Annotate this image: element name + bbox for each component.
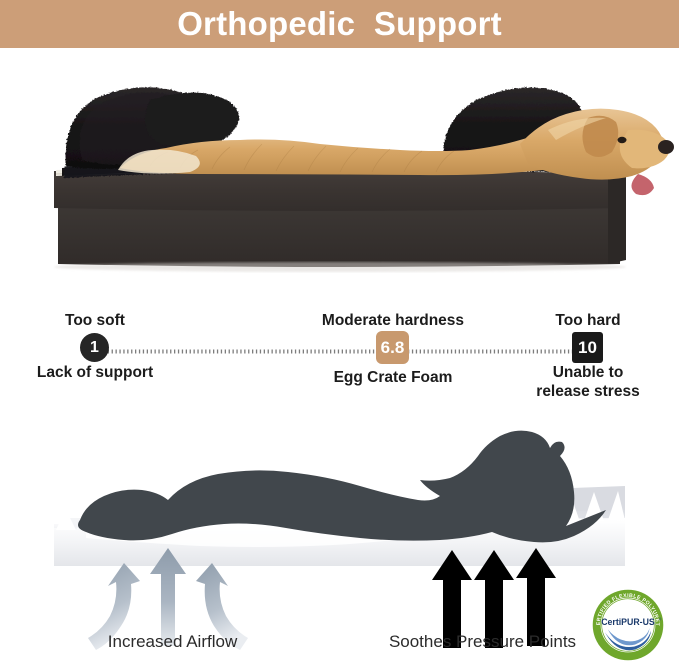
page-title: Orthopedic Support <box>177 7 502 40</box>
foam-diagram: Increased Airflow Soothes Pressure Point… <box>0 400 679 668</box>
scale-label-too-hard: Too hard <box>528 312 648 330</box>
scale-label-lack-of-support: Lack of support <box>25 364 165 383</box>
scale-label-moderate-hardness: Moderate hardness <box>318 312 468 330</box>
hardness-scale: Too soft 1 Lack of support Moderate hard… <box>0 300 679 400</box>
scale-label-too-soft: Too soft <box>35 312 155 330</box>
scale-label-unable-to-release-stress: Unable to release stress <box>525 364 651 401</box>
certipur-us-logo: CONTAINS CERTIFIED FLEXIBLE POLYURETHANE… <box>592 589 664 661</box>
dog-bed-illustration <box>0 48 679 296</box>
scale-badge-10: 10 <box>572 332 603 363</box>
scale-badge-6-8: 6.8 <box>376 331 409 364</box>
header-banner: Orthopedic Support <box>0 0 679 48</box>
scale-badge-1: 1 <box>80 333 109 362</box>
unable-to-release-stress-line1: Unable to <box>525 364 651 383</box>
airflow-label: Increased Airflow <box>40 632 305 652</box>
certipur-wordmark: CertiPUR-US <box>601 617 655 627</box>
pressure-points-label: Soothes Pressure Points <box>350 632 615 652</box>
scale-dashed-line <box>96 348 586 355</box>
product-photo <box>0 48 679 296</box>
scale-label-egg-crate-foam: Egg Crate Foam <box>318 369 468 388</box>
certipur-badge-icon: CONTAINS CERTIFIED FLEXIBLE POLYURETHANE… <box>592 589 664 661</box>
unable-to-release-stress-line2: release stress <box>525 383 651 402</box>
airflow-pressure-illustration <box>0 400 679 668</box>
dog-silhouette <box>78 431 606 543</box>
